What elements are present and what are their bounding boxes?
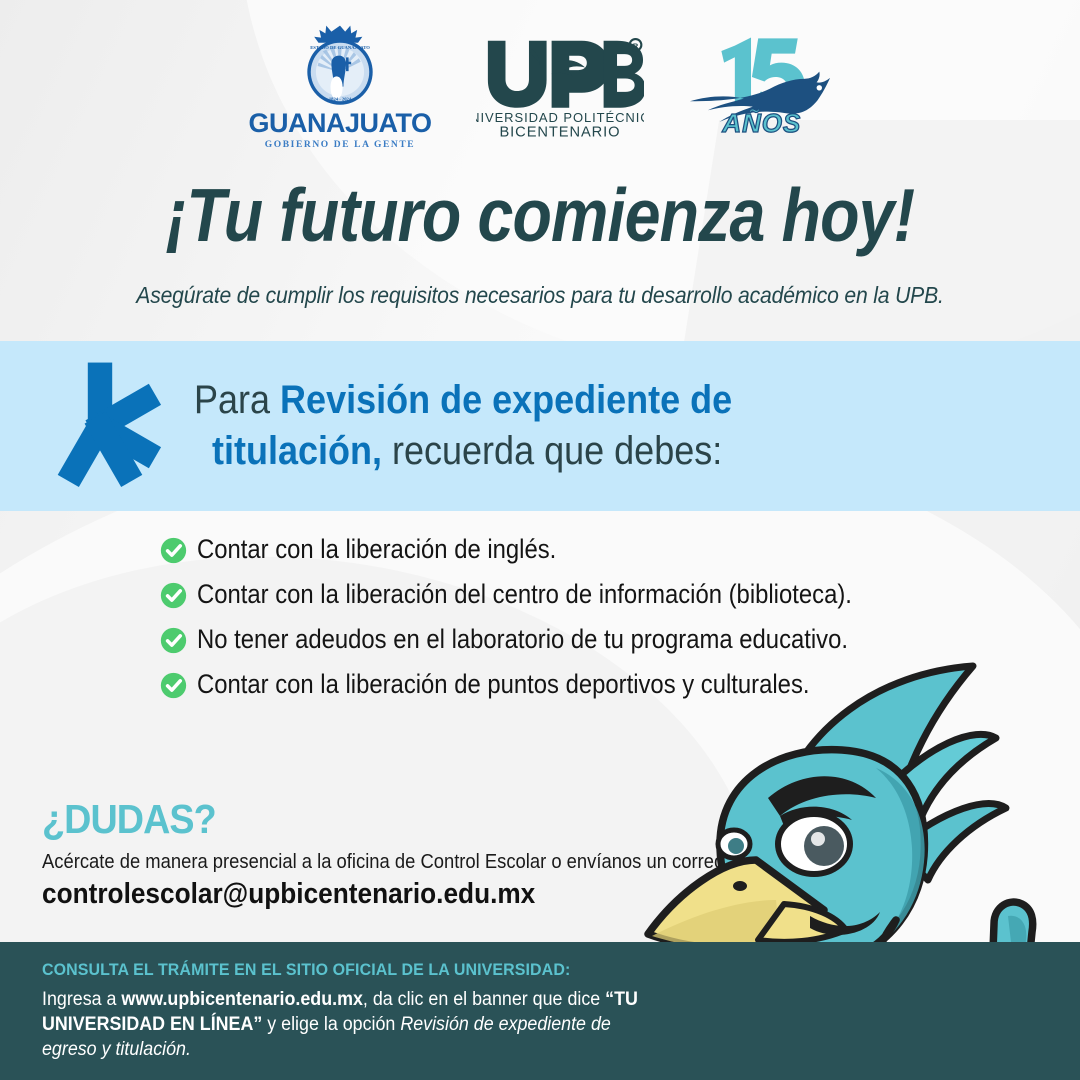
- footer-band: CONSULTA EL TRÁMITE EN EL SITIO OFICIAL …: [0, 942, 1080, 1080]
- guanajuato-tagline: GOBIERNO DE LA GENTE: [265, 140, 416, 150]
- upb-logo-mark: R UNIVERSIDAD POLITÉCNICA BICENTENARIO: [476, 34, 644, 138]
- asterisk-icon-wrap: [0, 362, 200, 490]
- footer-heading: CONSULTA EL TRÁMITE EN EL SITIO OFICIAL …: [42, 960, 644, 980]
- asterisk-icon: [39, 362, 161, 490]
- svg-text:ESTADO DE GUANAJUATO: ESTADO DE GUANAJUATO: [310, 45, 370, 50]
- upb-line1: UNIVERSIDAD POLITÉCNICA: [476, 110, 644, 125]
- highlight-banner: Para Revisión de expediente de titulació…: [0, 341, 1080, 511]
- footer-text-1: Ingresa a: [42, 989, 121, 1010]
- page-title: ¡Tu futuro comienza hoy!: [76, 178, 1005, 253]
- page-subtitle: Asegúrate de cumplir los requisitos nece…: [54, 282, 1026, 309]
- guanajuato-wordmark: GUANAJUATO: [248, 110, 431, 137]
- banner-line1-highlight: Revisión de expediente de: [280, 378, 732, 422]
- footer-website-url[interactable]: www.upbicentenario.edu.mx: [121, 989, 362, 1010]
- banner-line2-suffix: recuerda que debes:: [382, 429, 722, 473]
- footer-text-3: y elige la opción: [262, 1014, 400, 1035]
- poster-root: ESTADO DE GUANAJUATO 1824 · 2024 GUANAJU…: [0, 0, 1080, 1080]
- anniversary-logo: AÑOS: [688, 33, 832, 139]
- svg-text:R: R: [632, 41, 638, 50]
- check-circle-icon: [160, 627, 187, 654]
- banner-line1-prefix: Para: [194, 378, 280, 422]
- list-item: Contar con la liberación de inglés.: [160, 533, 960, 567]
- guanajuato-logo: ESTADO DE GUANAJUATO 1824 · 2024 GUANAJU…: [248, 23, 431, 150]
- anniversary-15-anos-mark: AÑOS: [688, 33, 832, 139]
- list-item-label: Contar con la liberación del centro de i…: [197, 578, 852, 611]
- list-item: Contar con la liberación del centro de i…: [160, 578, 960, 612]
- upb-line2: BICENTENARIO: [499, 124, 620, 138]
- banner-line2-highlight: titulación,: [212, 429, 382, 473]
- svg-text:1824 · 2024: 1824 · 2024: [329, 97, 352, 102]
- logo-strip: ESTADO DE GUANAJUATO 1824 · 2024 GUANAJU…: [0, 22, 1080, 150]
- footer-body: Ingresa a www.upbicentenario.edu.mx, da …: [42, 987, 662, 1062]
- banner-line2: titulación, recuerda que debes:: [194, 426, 892, 477]
- footer-text-2: , da clic en el banner que dice: [363, 989, 605, 1010]
- check-circle-icon: [160, 582, 187, 609]
- contact-email[interactable]: controlescolar@upbicentenario.edu.mx: [42, 878, 535, 911]
- banner-text: Para Revisión de expediente de titulació…: [194, 375, 991, 477]
- check-circle-icon: [160, 672, 187, 699]
- guanajuato-state-seal: ESTADO DE GUANAJUATO 1824 · 2024: [297, 23, 383, 109]
- list-item-label: Contar con la liberación de inglés.: [197, 533, 556, 566]
- upb-logo: R UNIVERSIDAD POLITÉCNICA BICENTENARIO: [476, 34, 644, 138]
- check-circle-icon: [160, 537, 187, 564]
- dudas-heading: ¿DUDAS?: [42, 796, 216, 843]
- footer-content: CONSULTA EL TRÁMITE EN EL SITIO OFICIAL …: [42, 960, 682, 1062]
- anniversary-label: AÑOS: [721, 108, 801, 138]
